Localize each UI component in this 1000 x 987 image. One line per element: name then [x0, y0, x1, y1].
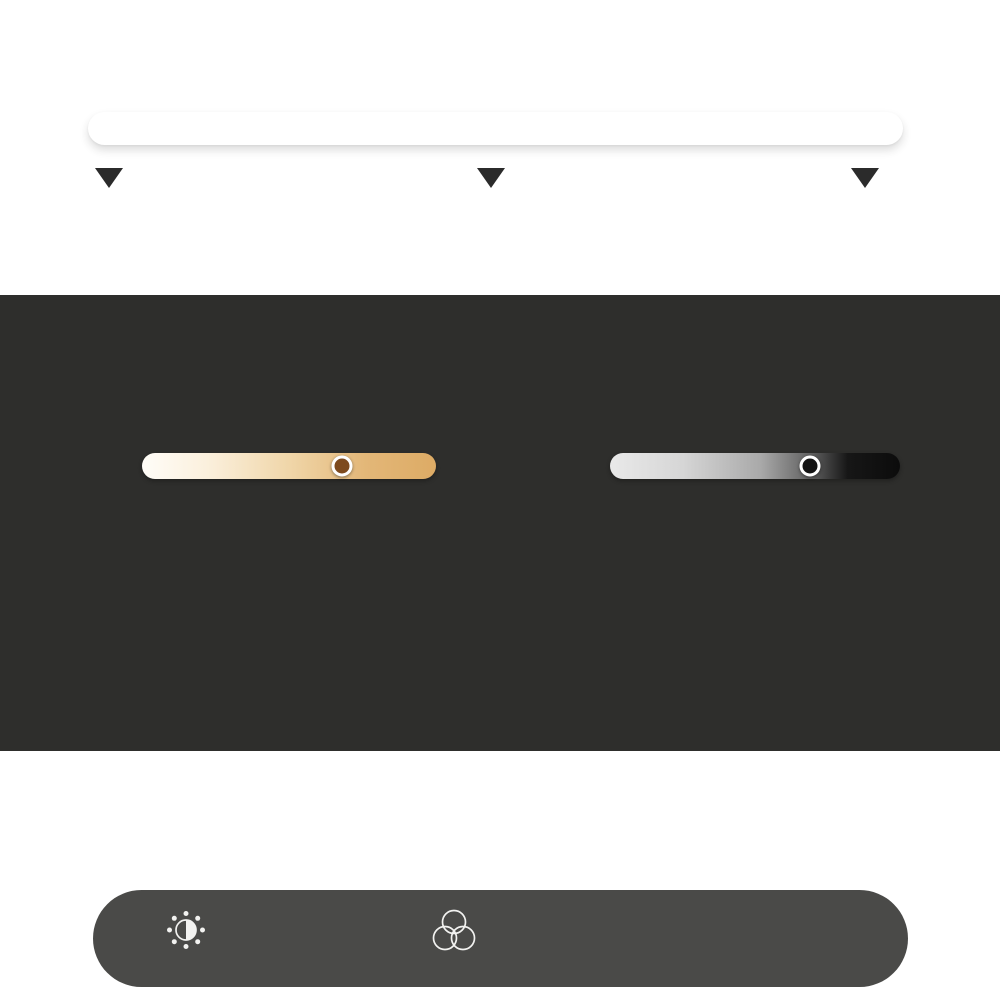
- feature-brightness-adjustment: [165, 909, 216, 956]
- three-color-temperature-gradient-bar: [88, 112, 903, 145]
- color-temperature-slider[interactable]: [142, 453, 436, 479]
- marker-neutral-light-icon: [477, 168, 505, 188]
- three-color-dimming-section: [0, 0, 1000, 295]
- brightness-slider[interactable]: [610, 453, 900, 479]
- color-circles-venn-icon: [430, 907, 478, 960]
- feature-color-temperature-adjustment: [430, 907, 487, 960]
- marker-warm-light-icon: [95, 168, 123, 188]
- slider-row: [0, 455, 1000, 565]
- product-infographic-page: [0, 0, 1000, 751]
- marker-positive-white-light-icon: [851, 168, 879, 188]
- brightness-half-sun-icon: [165, 909, 207, 956]
- brightness-slider-handle[interactable]: [800, 456, 821, 477]
- infinite-dimming-section: [0, 295, 1000, 751]
- dark-section-title: [0, 348, 1000, 379]
- color-temperature-slider-handle[interactable]: [331, 456, 352, 477]
- feature-card: [93, 890, 908, 987]
